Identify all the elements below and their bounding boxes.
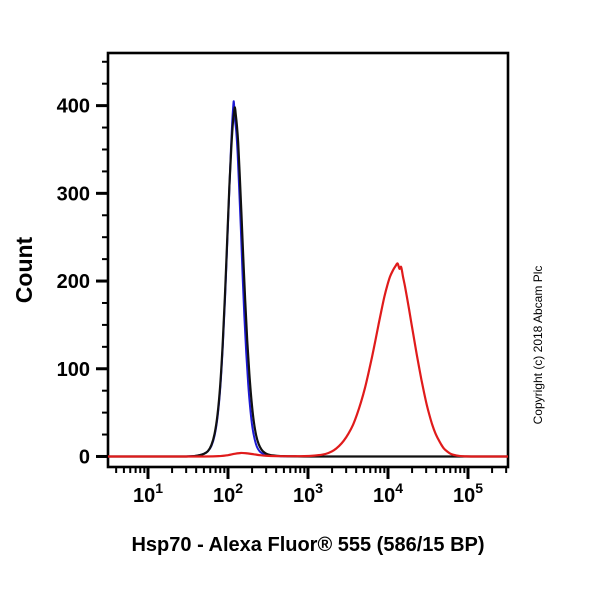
y-tick-label: 400 [57,96,90,118]
y-tick-label: 100 [57,359,90,381]
y-tick-label: 300 [57,183,90,205]
figure-background [0,0,600,600]
y-tick-label: 0 [79,446,90,468]
copyright-notice: Copyright (c) 2018 Abcam Plc [531,266,545,425]
x-axis-title: Hsp70 - Alexa Fluor® 555 (586/15 BP) [131,534,484,556]
y-axis-title: Count [11,236,37,303]
flow-cytometry-figure: 101102103104105 0100200300400 Count Hsp7… [0,0,600,600]
histogram-plot: 101102103104105 0100200300400 Count Hsp7… [0,0,600,600]
y-tick-label: 200 [57,271,90,293]
